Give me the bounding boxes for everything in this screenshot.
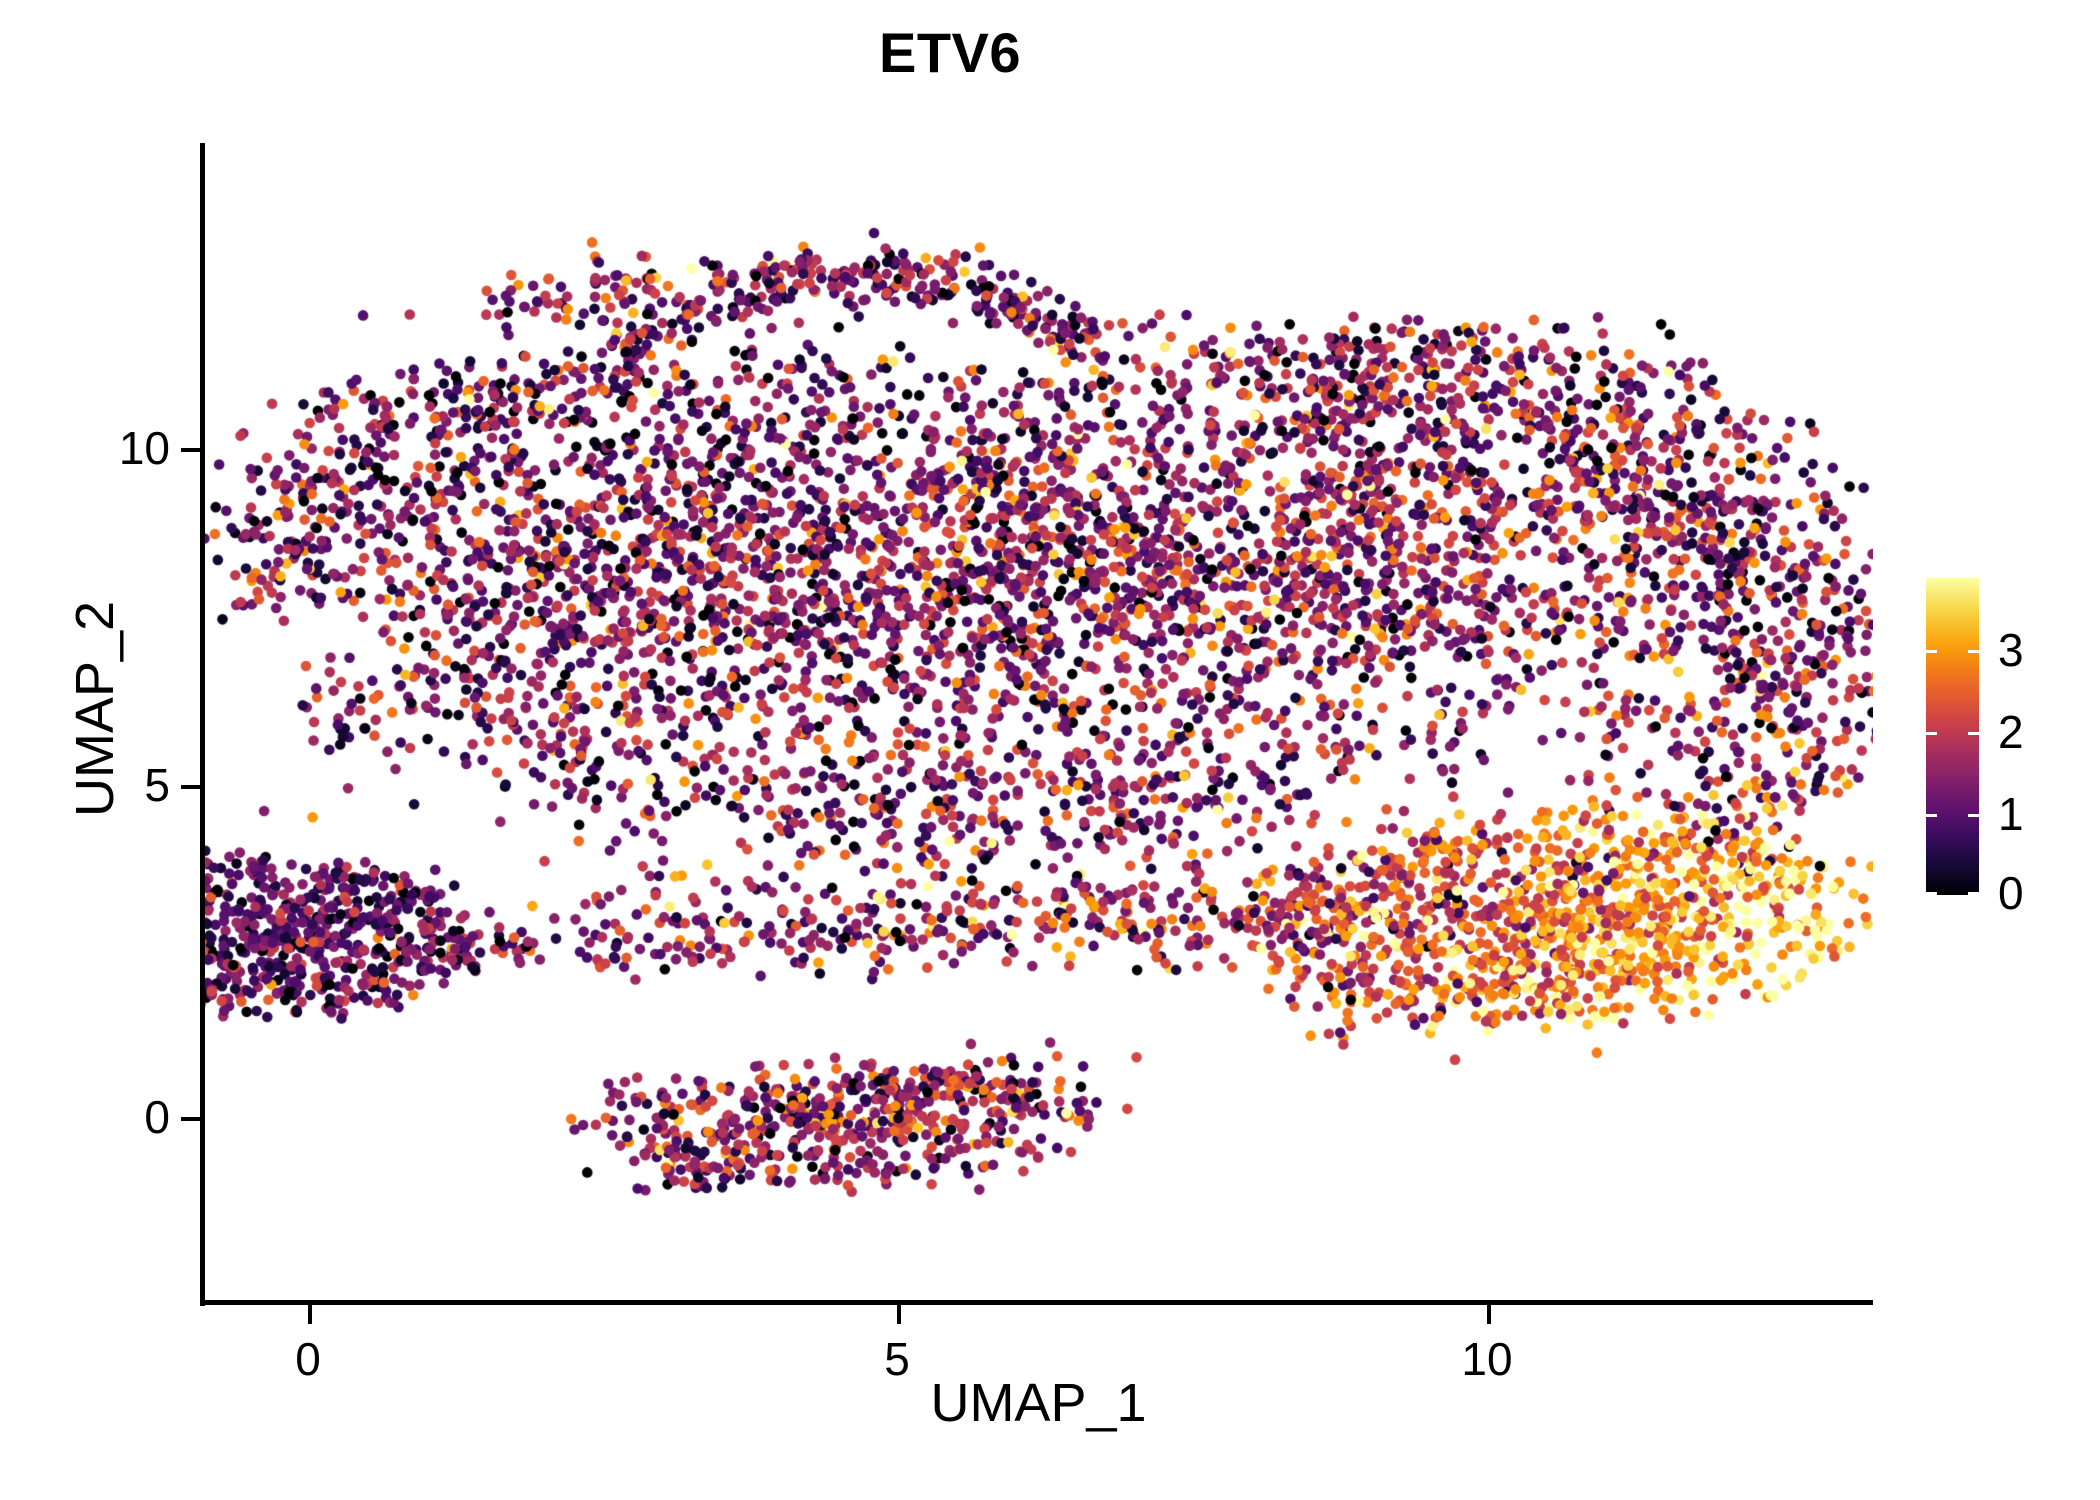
colorbar-label-2: 2 <box>1998 709 2024 755</box>
scatter-plot-canvas <box>204 143 1873 1303</box>
page-title: ETV6 <box>0 22 1900 84</box>
colorbar-tick-0-left <box>1926 892 1937 895</box>
x-tick-mark-10 <box>1487 1305 1491 1324</box>
y-axis-line <box>200 143 205 1306</box>
y-tick-mark-10 <box>181 448 200 452</box>
colorbar-legend: 3 2 1 0 <box>1926 578 2086 898</box>
colorbar-tick-1-left <box>1926 814 1937 817</box>
colorbar-label-1: 1 <box>1998 791 2024 837</box>
colorbar-tick-2-left <box>1926 732 1937 735</box>
y-axis-title: UMAP_2 <box>64 309 126 1109</box>
colorbar-tick-3-right <box>1968 650 1979 653</box>
y-tick-label-10: 10 <box>119 421 170 475</box>
x-tick-mark-5 <box>897 1305 901 1324</box>
colorbar-label-3: 3 <box>1998 627 2024 673</box>
plot-panel <box>204 143 1873 1303</box>
colorbar-tick-2-right <box>1968 732 1979 735</box>
colorbar-tick-3-left <box>1926 650 1937 653</box>
y-tick-label-5: 5 <box>144 758 170 812</box>
colorbar-gradient <box>1926 578 1979 895</box>
colorbar-label-0: 0 <box>1998 870 2024 916</box>
y-tick-mark-5 <box>181 785 200 789</box>
colorbar-tick-1-right <box>1968 814 1979 817</box>
y-tick-label-0: 0 <box>144 1090 170 1144</box>
x-tick-mark-0 <box>308 1305 312 1324</box>
chart-page: ETV6 10 5 0 0 5 10 UMAP_1 UMAP_2 3 2 1 <box>0 0 2100 1500</box>
colorbar-tick-0-right <box>1968 892 1979 895</box>
y-tick-mark-0 <box>181 1117 200 1121</box>
x-axis-line <box>200 1300 1873 1305</box>
x-axis-title: UMAP_1 <box>204 1372 1873 1434</box>
